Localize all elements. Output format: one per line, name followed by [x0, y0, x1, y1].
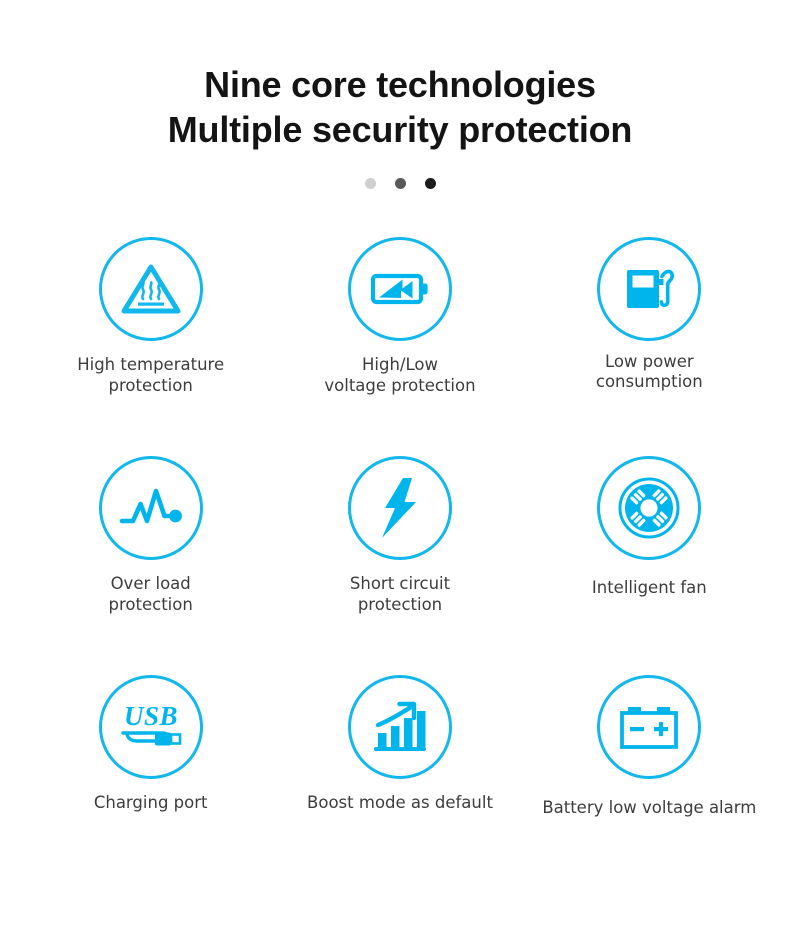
icon-circle — [99, 456, 203, 560]
lightning-bolt-icon — [376, 475, 424, 541]
feature-label: Boost mode as default — [307, 792, 493, 813]
hot-surface-warning-icon — [120, 258, 182, 320]
page-header: Nine core technologies Multiple security… — [0, 0, 800, 152]
page-title-line-1: Nine core technologies — [0, 62, 800, 107]
carousel-dot-3-active[interactable] — [425, 178, 436, 189]
feature-item-over-load-protection[interactable]: Over load protection — [26, 456, 275, 675]
icon-circle — [348, 675, 452, 779]
feature-item-high-temperature-protection[interactable]: High temperature protection — [26, 237, 275, 456]
feature-item-low-power-consumption[interactable]: Low power consumption — [525, 237, 774, 456]
feature-label: High temperature protection — [77, 354, 224, 396]
feature-item-high-low-voltage-protection[interactable]: High/Low voltage protection — [275, 237, 524, 456]
carousel-dot-1[interactable] — [365, 178, 376, 189]
battery-bolt-icon — [368, 257, 432, 321]
feature-item-short-circuit-protection[interactable]: Short circuit protection — [275, 456, 524, 675]
feature-label: Battery low voltage alarm — [542, 797, 756, 818]
page-title-line-2: Multiple security protection — [0, 107, 800, 152]
feature-label: Intelligent fan — [592, 577, 707, 598]
feature-label: Over load protection — [109, 573, 193, 615]
icon-circle — [597, 675, 701, 779]
car-battery-icon — [618, 701, 680, 753]
feature-label: Charging port — [94, 792, 208, 813]
waveform-pulse-icon — [118, 478, 184, 538]
icon-circle: USB — [99, 675, 203, 779]
bar-chart-arrow-up-icon — [370, 698, 430, 756]
feature-grid: High temperature protection High/Low vol… — [0, 237, 800, 894]
feature-item-charging-port[interactable]: USB Charging port — [26, 675, 275, 894]
icon-circle — [348, 456, 452, 560]
icon-circle — [597, 456, 701, 560]
icon-circle — [99, 237, 203, 341]
feature-label: Short circuit protection — [350, 573, 450, 615]
carousel-dots[interactable] — [0, 178, 800, 189]
feature-item-intelligent-fan[interactable]: Intelligent fan — [525, 456, 774, 675]
usb-cable-icon: USB — [115, 698, 187, 756]
svg-text:USB: USB — [124, 701, 178, 731]
icon-circle — [597, 237, 701, 341]
feature-label: Low power consumption — [596, 352, 703, 392]
icon-circle — [348, 237, 452, 341]
feature-item-boost-mode-as-default[interactable]: Boost mode as default — [275, 675, 524, 894]
feature-item-battery-low-voltage-alarm[interactable]: Battery low voltage alarm — [525, 675, 774, 894]
carousel-dot-2[interactable] — [395, 178, 406, 189]
fuel-pump-icon — [619, 259, 679, 319]
fan-icon — [617, 476, 681, 540]
feature-label: High/Low voltage protection — [324, 354, 475, 396]
